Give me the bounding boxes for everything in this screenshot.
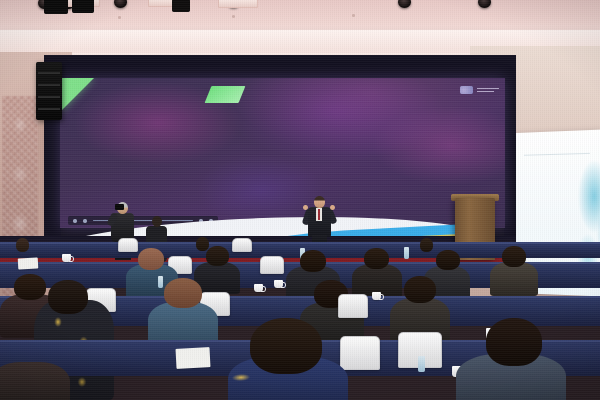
slide-logo-text-lines (477, 88, 499, 92)
slide-corner-accent (60, 78, 94, 112)
water-bottle (418, 356, 425, 372)
attendee-head (48, 280, 88, 314)
water-bottle (158, 276, 163, 288)
attendee-body (0, 362, 70, 400)
document-page (18, 257, 39, 269)
attendee-head (16, 238, 29, 252)
chair (260, 256, 284, 274)
screen-mask-right (504, 55, 516, 255)
attendee-head (14, 274, 46, 300)
line-array-speaker (36, 62, 62, 120)
attendee-head (164, 278, 202, 308)
slide-logo-group (456, 86, 499, 94)
attendee-head (250, 318, 322, 374)
tea-cup (274, 280, 283, 288)
audience-area (0, 236, 600, 400)
slide-node-chain (65, 120, 500, 166)
screen-mask-top (44, 55, 514, 79)
attendee-body (490, 262, 538, 296)
ceiling-fixture (352, 14, 355, 17)
water-bottle (404, 247, 409, 259)
chair (118, 238, 138, 252)
attendee-head (420, 238, 433, 252)
attendee-head (196, 237, 209, 251)
ceiling-speaker (72, 0, 94, 13)
ceiling-speaker (172, 0, 190, 12)
attendee-head (364, 248, 389, 269)
banner-divider (524, 153, 590, 156)
ceiling-panel (218, 0, 258, 8)
tea-cup (372, 292, 381, 300)
ceiling-fixture (118, 16, 121, 19)
attendee-head (404, 276, 436, 303)
attendee-head (300, 250, 326, 272)
attendee-head (502, 246, 526, 267)
chair (340, 336, 380, 370)
attendee-head (138, 248, 164, 270)
tea-cup (62, 254, 71, 262)
attendee-head (206, 246, 229, 266)
ceiling-speaker (44, 0, 68, 14)
slide-logo-secondary-mark (460, 86, 473, 94)
chair (338, 294, 368, 318)
document-page (175, 347, 210, 369)
slide-title-accent-shape (205, 86, 246, 103)
attendee-head (436, 250, 460, 270)
attendee-shoulder-emblem (228, 371, 255, 383)
attendee-head (486, 318, 542, 366)
chair (232, 238, 252, 252)
tea-cup (254, 284, 263, 292)
ceiling-fixture (232, 15, 235, 18)
conference-photo (0, 0, 600, 400)
